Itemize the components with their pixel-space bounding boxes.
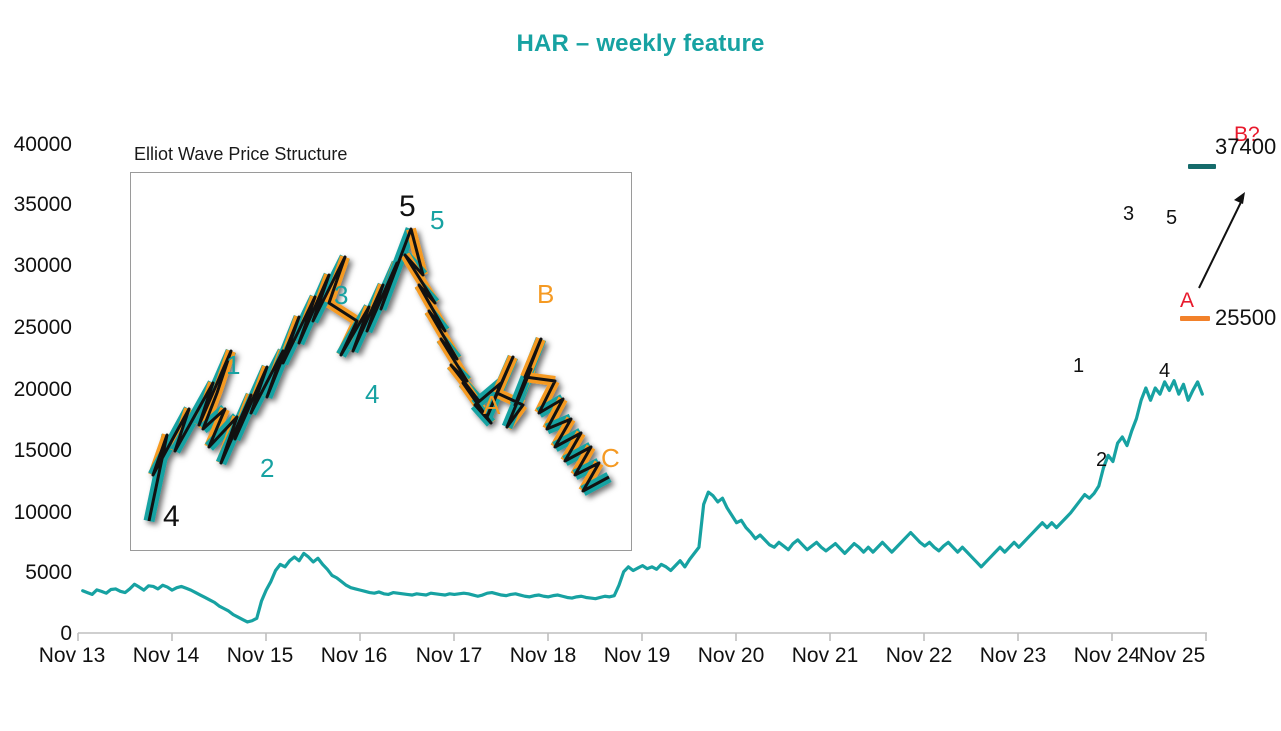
inset-label-3: 3 [334,282,348,308]
inset-title: Elliot Wave Price Structure [134,144,347,165]
high-value-label: 37400 [1215,136,1276,158]
inset-label-1: 1 [226,352,240,378]
inset-label-2: 2 [260,455,274,481]
wave-label-3: 3 [1123,204,1134,224]
x-axis [78,633,1207,641]
wave-label-2: 2 [1096,450,1107,470]
inset-label-4-start: 4 [163,502,180,532]
low-value-swatch [1180,316,1210,321]
inset-label-4: 4 [365,381,379,407]
wave-label-5: 5 [1166,208,1177,228]
inset-label-5-black: 5 [399,192,416,222]
inset-label-b: B [537,281,554,307]
projection-arrow [1199,192,1245,288]
inset-label-5-teal: 5 [430,207,444,233]
annotation-a-marker: A [1180,290,1194,311]
high-value-swatch [1188,164,1216,169]
wave-label-1: 1 [1073,356,1084,376]
inset-label-a: A [483,392,500,418]
inset-panel [130,172,632,551]
elliot-wave-diagram [131,173,633,552]
wave-label-4: 4 [1159,361,1170,381]
low-value-label: 25500 [1215,307,1276,329]
inset-label-c: C [601,445,620,471]
